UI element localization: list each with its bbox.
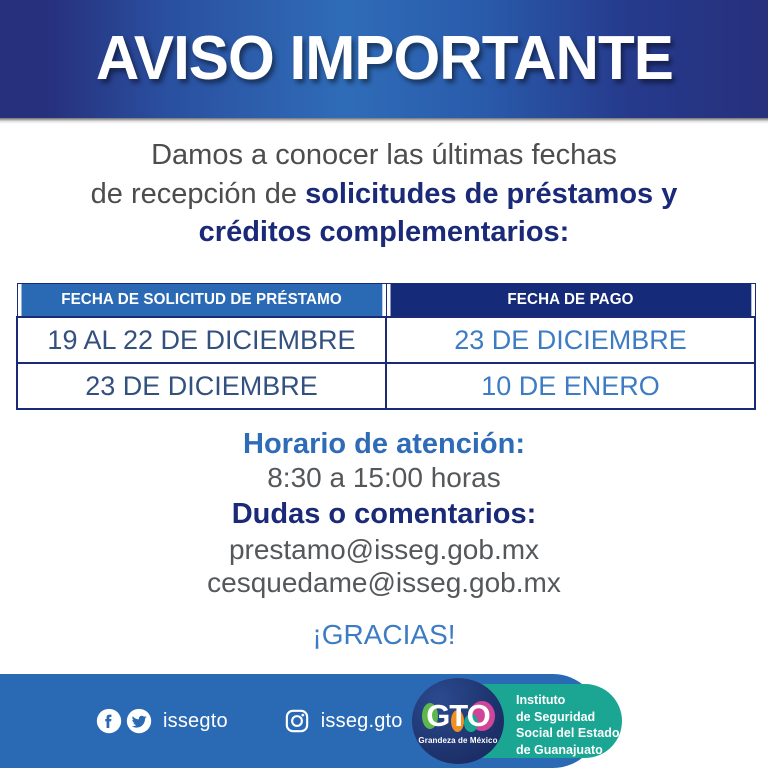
dates-table-wrapper: FECHA DE SOLICITUD DE PRÉSTAMO FECHA DE … (16, 283, 752, 410)
horario-label: Horario de atención: (0, 428, 768, 461)
social-handle-isseggto[interactable]: isseg.gto (321, 710, 403, 733)
intro-paragraph: Damos a conocer las últimas fechas de re… (0, 136, 768, 252)
instagram-icon[interactable] (284, 708, 310, 734)
gracias-text: ¡GRACIAS! (0, 620, 768, 651)
email-prestamo[interactable]: prestamo@isseg.gob.mx (0, 534, 768, 567)
dudas-label: Dudas o comentarios: (0, 495, 768, 534)
cell-solicitud-2: 23 DE DICIEMBRE (17, 363, 386, 409)
facebook-icon[interactable] (96, 708, 122, 734)
gto-logo: GTO Grandeza de México Instituto de Segu… (412, 678, 622, 764)
gto-mark: GTO (420, 698, 496, 734)
table-header-row: FECHA DE SOLICITUD DE PRÉSTAMO FECHA DE … (17, 284, 755, 318)
header-banner: AVISO IMPORTANTE (0, 0, 768, 118)
institution-line-2: de Seguridad (516, 709, 620, 726)
intro-line-2-bold: solicitudes de préstamos y (305, 178, 677, 210)
header-shadow (0, 118, 768, 124)
intro-line-2: de recepción de solicitudes de préstamos… (0, 175, 768, 214)
intro-line-2-plain: de recepción de (91, 178, 305, 210)
twitter-icon[interactable] (126, 708, 152, 734)
horario-value: 8:30 a 15:00 horas (0, 461, 768, 495)
gto-letters: GTO (420, 698, 496, 734)
social-group-instagram[interactable]: isseg.gto (284, 708, 403, 734)
email-cesquedame[interactable]: cesquedame@isseg.gob.mx (0, 567, 768, 600)
intro-line-3: créditos complementarios: (0, 213, 768, 252)
cell-pago-2: 10 DE ENERO (386, 363, 755, 409)
institution-line-4: de Guanajuato (516, 742, 620, 759)
intro-line-1: Damos a conocer las últimas fechas (0, 136, 768, 175)
institution-line-3: Social del Estado (516, 725, 620, 742)
info-block: Horario de atención: 8:30 a 15:00 horas … (0, 428, 768, 650)
social-group-facebook-twitter[interactable]: issegto (96, 708, 228, 734)
logo-ellipse: GTO Grandeza de México (412, 678, 504, 764)
dates-table: FECHA DE SOLICITUD DE PRÉSTAMO FECHA DE … (16, 283, 756, 410)
gto-tagline: Grandeza de México (418, 736, 497, 745)
column-header-solicitud: FECHA DE SOLICITUD DE PRÉSTAMO (21, 284, 383, 318)
page-title: AVISO IMPORTANTE (96, 28, 673, 90)
table-row: 19 AL 22 DE DICIEMBRE 23 DE DICIEMBRE (17, 317, 755, 363)
table-row: 23 DE DICIEMBRE 10 DE ENERO (17, 363, 755, 409)
column-header-pago: FECHA DE PAGO (390, 284, 752, 318)
institution-line-1: Instituto (516, 692, 620, 709)
cell-pago-1: 23 DE DICIEMBRE (386, 317, 755, 363)
social-handle-issegto[interactable]: issegto (163, 710, 228, 733)
cell-solicitud-1: 19 AL 22 DE DICIEMBRE (17, 317, 386, 363)
institution-name: Instituto de Seguridad Social del Estado… (516, 692, 620, 758)
